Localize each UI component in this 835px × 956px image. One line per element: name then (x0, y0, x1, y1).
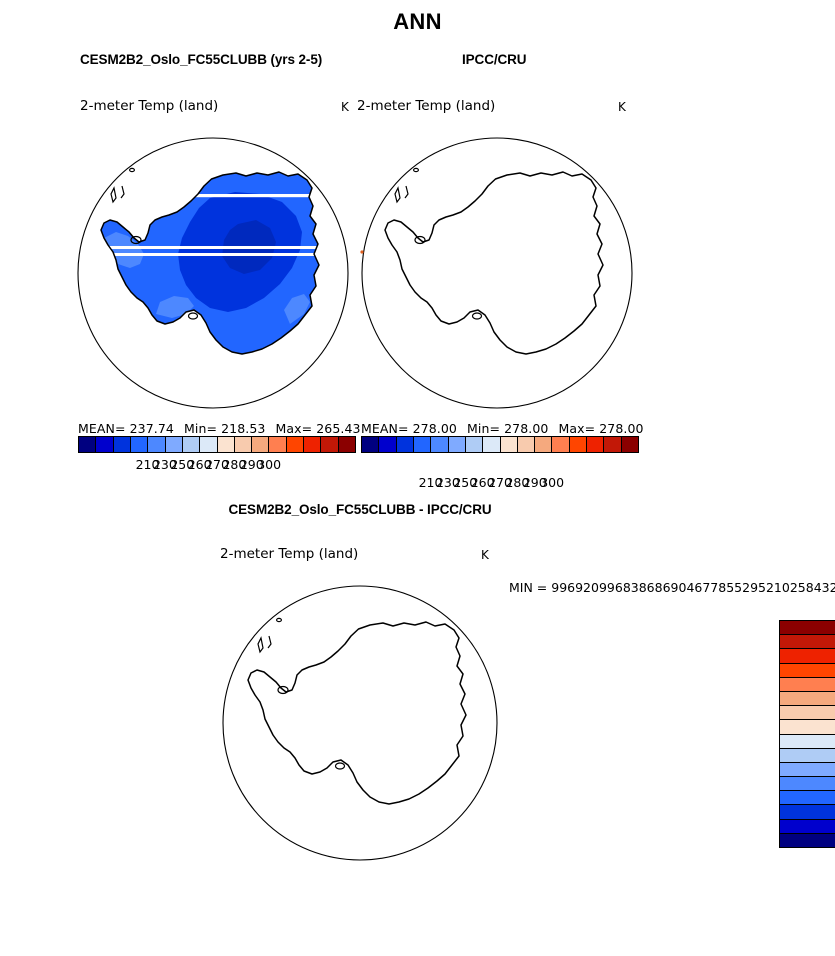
globe-outline (223, 586, 497, 860)
colorbar-obs-swatch (501, 437, 518, 452)
colorbar-obs-swatch (431, 437, 448, 452)
colorbar-model-swatch (218, 437, 235, 452)
colorbar-obs-swatch (379, 437, 396, 452)
colorbar-diff-vertical (779, 620, 835, 848)
colorbar-model-swatch (252, 437, 269, 452)
colorbar-model (78, 436, 356, 453)
colorbar-diff-swatch (780, 649, 835, 663)
colorbar-diff-swatch (780, 791, 835, 805)
stat-max-obs: Max= 278.00 (558, 421, 643, 436)
colorbar-obs-swatch (552, 437, 569, 452)
unit-label-model: K (341, 100, 349, 114)
colorbar-obs (361, 436, 639, 453)
colorbar-model-swatch (114, 437, 131, 452)
unit-label-obs: K (618, 100, 626, 114)
colorbar-diff-swatch (780, 635, 835, 649)
colorbar-diff-swatch (780, 805, 835, 819)
field-label-diff: 2-meter Temp (land) (220, 546, 358, 562)
colorbar-diff-swatch (780, 735, 835, 749)
colorbar-model-swatch (321, 437, 338, 452)
colorbar-diff-swatch (780, 720, 835, 734)
unit-label-diff: K (481, 548, 489, 562)
colorbar-model-swatch (166, 437, 183, 452)
colorbar-diff-swatch (780, 834, 835, 847)
stat-min-diff: MIN = 9969209968386869046778552952102584… (509, 580, 835, 595)
colorbar-obs-swatch (570, 437, 587, 452)
colorbar-model-swatch (235, 437, 252, 452)
colorbar-obs-swatch (362, 437, 379, 452)
map-plot-model (60, 128, 360, 420)
colorbar-diff-swatch (780, 820, 835, 834)
stats-model: MEAN= 237.74Min= 218.53Max= 265.43 (78, 421, 361, 436)
colorbar-diff-swatch (780, 664, 835, 678)
colorbar-diff-swatch (780, 678, 835, 692)
map-plot-diff (207, 578, 513, 874)
colorbar-model-swatch (269, 437, 286, 452)
colorbar-model-swatch (287, 437, 304, 452)
map-plot-obs (344, 128, 644, 420)
panel-heading-model: CESM2B2_Oslo_FC55CLUBB (yrs 2-5) (80, 52, 322, 67)
colorbar-diff-swatch (780, 621, 835, 635)
colorbar-obs-swatch (449, 437, 466, 452)
colorbar-obs-swatch (535, 437, 552, 452)
colorbar-diff-swatch (780, 749, 835, 763)
field-label-model: 2-meter Temp (land) (80, 98, 218, 114)
colorbar-obs-swatch (604, 437, 621, 452)
colorbar-model-swatch (148, 437, 165, 452)
colorbar-diff-swatch (780, 763, 835, 777)
colorbar-model-swatch (131, 437, 148, 452)
stat-min-obs: Min= 278.00 (467, 421, 548, 436)
colorbar-obs-swatch (587, 437, 604, 452)
colorbar-obs-swatch (466, 437, 483, 452)
panel-heading-diff: CESM2B2_Oslo_FC55CLUBB - IPCC/CRU (0, 502, 720, 517)
colorbar-model-tick: 300 (257, 457, 281, 472)
colorbar-ticks-obs: 210230250260270280290300 (361, 475, 639, 493)
colorbar-ticks-model: 210230250260270280290300 (78, 457, 356, 475)
colorbar-diff-swatch (780, 692, 835, 706)
colorbar-model-swatch (183, 437, 200, 452)
colorbar-diff-swatch (780, 777, 835, 791)
colorbar-model-swatch (339, 437, 355, 452)
colorbar-model-swatch (304, 437, 321, 452)
colorbar-obs-swatch (397, 437, 414, 452)
stat-min-model: Min= 218.53 (184, 421, 265, 436)
colorbar-model-swatch (96, 437, 113, 452)
colorbar-obs-tick: 300 (540, 475, 564, 490)
colorbar-model-swatch (79, 437, 96, 452)
stat-mean-obs: MEAN= 278.00 (361, 421, 457, 436)
colorbar-model-swatch (200, 437, 217, 452)
colorbar-obs-swatch (622, 437, 638, 452)
stat-max-model: Max= 265.43 (275, 421, 360, 436)
colorbar-obs-swatch (483, 437, 500, 452)
stat-mean-model: MEAN= 237.74 (78, 421, 174, 436)
panel-heading-obs: IPCC/CRU (462, 52, 526, 67)
colorbar-obs-swatch (414, 437, 431, 452)
colorbar-obs-swatch (518, 437, 535, 452)
stats-obs: MEAN= 278.00Min= 278.00Max= 278.00 (361, 421, 644, 436)
field-label-obs: 2-meter Temp (land) (357, 98, 495, 114)
colorbar-diff-swatch (780, 706, 835, 720)
page-title: ANN (0, 9, 835, 35)
